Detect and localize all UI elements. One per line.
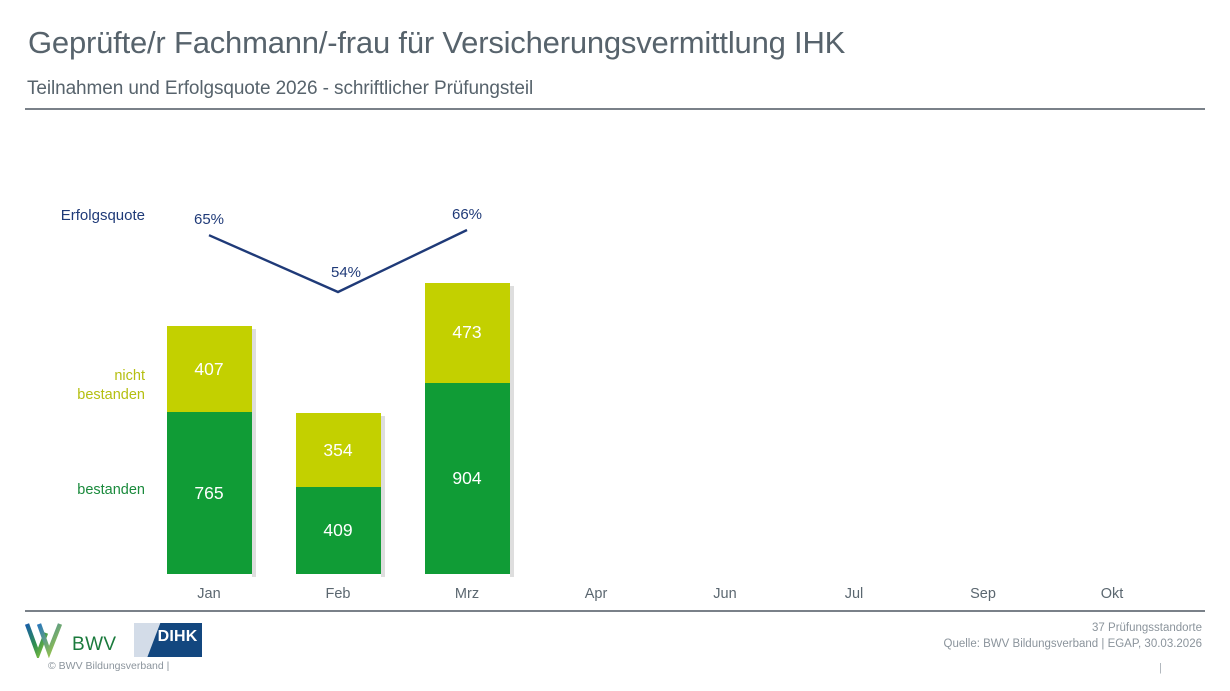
erfolgsquote-label-feb: 54% bbox=[331, 264, 361, 281]
x-axis-tick-jun: Jun bbox=[713, 586, 736, 602]
copyright-text: © BWV Bildungsverband | bbox=[48, 660, 169, 672]
chart-plot-area: Erfolgsquote nicht bestanden bestanden 4… bbox=[0, 112, 1230, 612]
source-text: Quelle: BWV Bildungsverband | EGAP, 30.0… bbox=[944, 636, 1203, 652]
erfolgsquote-line bbox=[0, 112, 1230, 612]
header-divider bbox=[25, 108, 1205, 110]
x-axis-tick-sep: Sep bbox=[970, 586, 996, 602]
erfolgsquote-label-jan: 65% bbox=[194, 211, 224, 228]
bwv-logo: BWV bbox=[25, 622, 116, 658]
page-marker: | bbox=[1159, 662, 1162, 674]
x-axis-tick-apr: Apr bbox=[585, 586, 608, 602]
chart-header: Geprüfte/r Fachmann/-frau für Versicheru… bbox=[0, 0, 1230, 112]
dihk-logo: DIHK bbox=[134, 623, 202, 657]
page-title: Geprüfte/r Fachmann/-frau für Versicheru… bbox=[28, 25, 845, 61]
page-subtitle: Teilnahmen und Erfolgsquote 2026 - schri… bbox=[27, 78, 533, 100]
x-axis-tick-feb: Feb bbox=[326, 586, 351, 602]
x-axis-tick-mrz: Mrz bbox=[455, 586, 479, 602]
locations-count: 37 Prüfungsstandorte bbox=[944, 620, 1203, 636]
bwv-mark-icon bbox=[25, 622, 67, 658]
footer-logo-group: BWV DIHK bbox=[25, 622, 202, 658]
x-axis-tick-jan: Jan bbox=[197, 586, 220, 602]
dihk-wordmark: DIHK bbox=[158, 628, 198, 646]
bwv-wordmark: BWV bbox=[72, 634, 116, 656]
x-axis-tick-jul: Jul bbox=[845, 586, 864, 602]
erfolgsquote-label-mrz: 66% bbox=[452, 206, 482, 223]
x-axis-tick-okt: Okt bbox=[1101, 586, 1124, 602]
footer-source-block: 37 Prüfungsstandorte Quelle: BWV Bildung… bbox=[944, 620, 1203, 652]
chart-footer: BWV DIHK © BWV Bildungsverband | 37 Prüf… bbox=[0, 612, 1230, 691]
